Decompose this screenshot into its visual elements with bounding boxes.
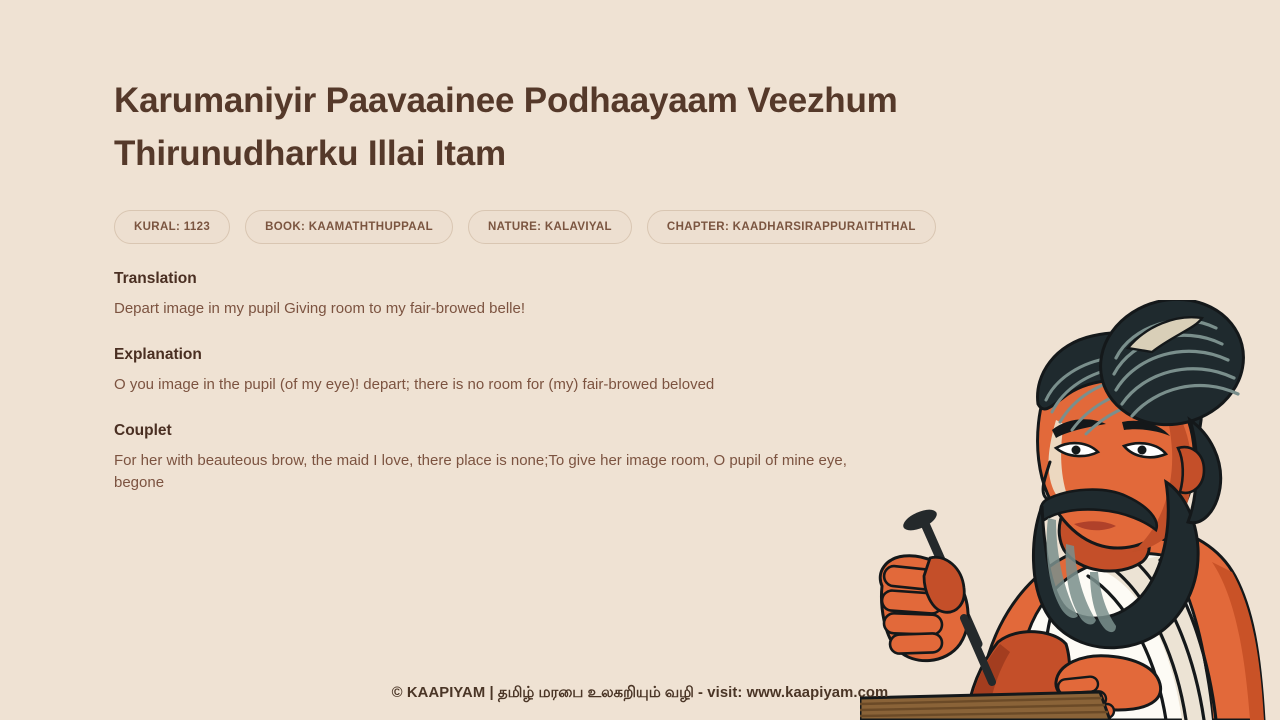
chip-kural[interactable]: KURAL: 1123: [114, 210, 230, 244]
hair-back: [1188, 420, 1221, 523]
section-text-translation: Depart image in my pupil Giving room to …: [114, 298, 862, 320]
right-pupil: [1138, 446, 1147, 455]
neck: [1059, 496, 1149, 571]
hair-bun-strands: [1114, 320, 1238, 416]
stylus-head: [900, 505, 939, 534]
kural-card-page: Karumaniyir Paavaainee Podhaayaam Veezhu…: [0, 0, 1280, 720]
right-eyebrow: [1122, 421, 1170, 436]
left-eyebrow: [1052, 419, 1106, 438]
section-text-explanation: O you image in the pupil (of my eye)! de…: [114, 374, 862, 396]
section-label-couplet: Couplet: [114, 422, 944, 441]
nose: [1043, 462, 1072, 503]
beard-highlights: [1047, 518, 1116, 632]
hair-front: [1038, 333, 1202, 440]
beard: [1033, 482, 1198, 648]
left-pupil: [1072, 446, 1081, 455]
hair-band: [1128, 317, 1202, 352]
hand-fingers: [881, 565, 942, 654]
hand-thumb: [924, 557, 964, 612]
face-shadow: [1132, 378, 1192, 552]
stylus-tip: [964, 618, 992, 682]
section-label-translation: Translation: [114, 270, 944, 289]
nose-highlight: [1049, 420, 1070, 502]
left-eye: [1056, 443, 1098, 456]
moustache: [1040, 490, 1156, 530]
left-forearm-shadow: [968, 644, 1010, 720]
meta-chip-row: KURAL: 1123 BOOK: KAAMATHTHUPPAAL NATURE…: [114, 210, 944, 244]
page-title: Karumaniyir Paavaainee Podhaayaam Veezhu…: [114, 0, 944, 180]
footer: © KAAPIYAM | தமிழ் மரபை உலகறியும் வழி - …: [0, 684, 1280, 703]
section-couplet: Couplet For her with beauteous brow, the…: [114, 422, 944, 494]
face: [1038, 364, 1195, 548]
left-forearm: [966, 632, 1070, 720]
hand-palm: [880, 556, 968, 661]
section-text-couplet: For her with beauteous brow, the maid I …: [114, 450, 862, 494]
hair-bun: [1087, 300, 1257, 440]
footer-credit-text: © KAAPIYAM | தமிழ் மரபை உலகறியும் வழி - …: [392, 685, 889, 701]
right-eye: [1124, 443, 1166, 457]
stylus-shaft: [926, 526, 978, 644]
chip-nature[interactable]: NATURE: KALAVIYAL: [468, 210, 632, 244]
lower-lip: [1074, 521, 1116, 530]
ear: [1178, 447, 1204, 493]
hair-front-strands: [1046, 358, 1154, 434]
kural-content: Karumaniyir Paavaainee Podhaayaam Veezhu…: [114, 0, 944, 494]
section-translation: Translation Depart image in my pupil Giv…: [114, 270, 944, 320]
chip-book[interactable]: BOOK: KAAMATHTHUPPAAL: [245, 210, 453, 244]
chip-chapter[interactable]: CHAPTER: KAADHARSIRAPPURAITHTHAL: [647, 210, 936, 244]
section-label-explanation: Explanation: [114, 346, 944, 365]
section-explanation: Explanation O you image in the pupil (of…: [114, 346, 944, 396]
left-hand-with-stylus: [880, 505, 992, 682]
